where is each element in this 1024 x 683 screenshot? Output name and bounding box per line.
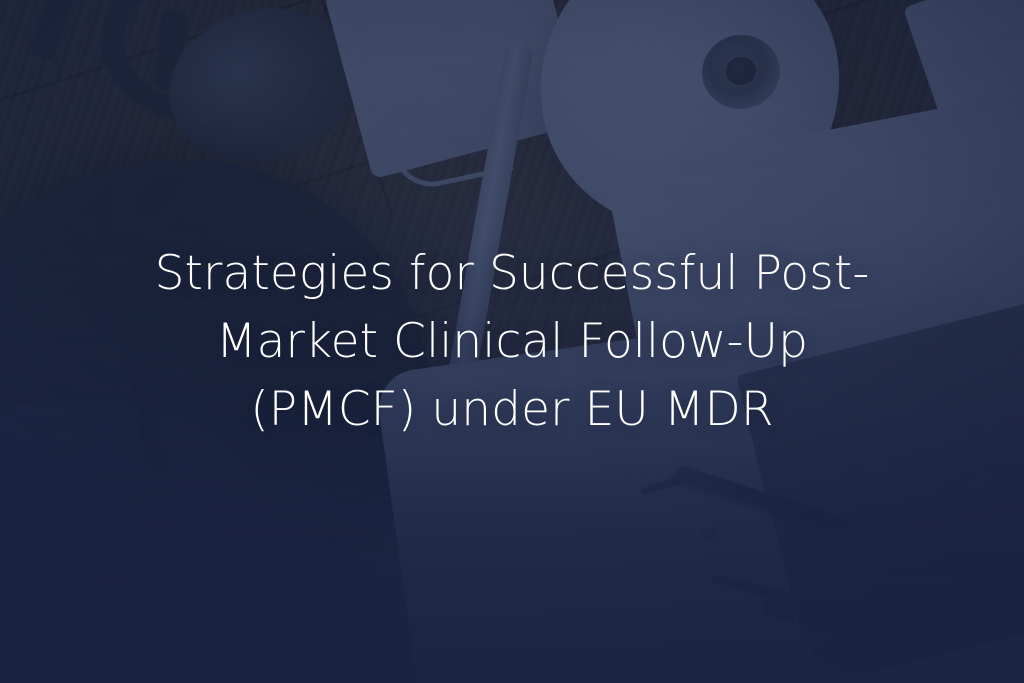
hero-banner: Strategies for Successful Post- Market C… [0, 0, 1024, 683]
title-line-3: (PMCF) under EU MDR [102, 376, 922, 444]
title-container: Strategies for Successful Post- Market C… [0, 0, 1024, 683]
title-line-2: Market Clinical Follow-Up [102, 308, 922, 376]
title-line-1: Strategies for Successful Post- [102, 240, 922, 308]
page-title: Strategies for Successful Post- Market C… [102, 240, 922, 444]
